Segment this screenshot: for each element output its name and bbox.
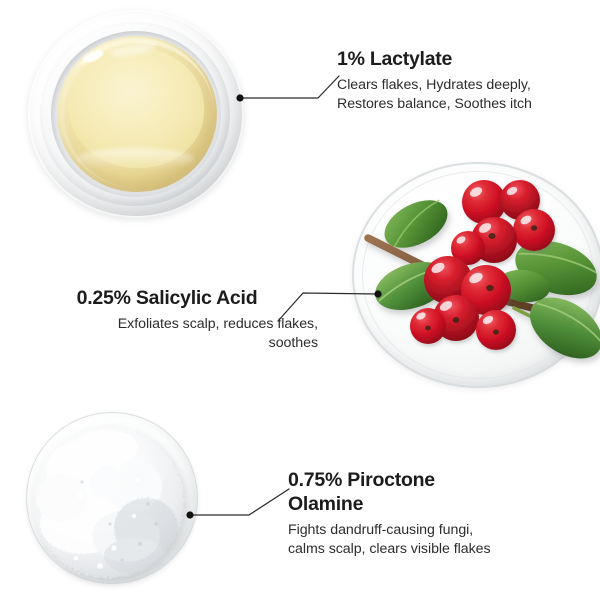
callout-lactylate-title: 1% Lactylate bbox=[337, 47, 587, 71]
callout-piroctone-title-line-2: Olamine bbox=[288, 493, 363, 515]
ingredient-image-jar bbox=[24, 8, 252, 220]
ingredient-image-berry-dish bbox=[344, 158, 600, 394]
lingonberry-sprig-illustration bbox=[344, 158, 600, 394]
callout-salicylic-acid-title: 0.25% Salicylic Acid bbox=[28, 286, 318, 310]
callout-piroctone-title-line-1: 0.75% Piroctone bbox=[288, 469, 435, 491]
ingredient-image-powder-dish bbox=[22, 408, 202, 592]
leader-line-lactylate bbox=[240, 76, 339, 98]
callout-salicylic-acid-description: Exfoliates scalp, reduces flakes, soothe… bbox=[28, 315, 318, 352]
callout-piroctone-olamine-title: 0.75% PiroctoneOlamine bbox=[288, 468, 568, 516]
leader-line-piroctone bbox=[190, 489, 289, 515]
callout-salicylic-acid: 0.25% Salicylic Acid Exfoliates scalp, r… bbox=[28, 286, 318, 352]
callout-piroctone-olamine-description: Fights dandruff-causing fungi, calms sca… bbox=[288, 521, 568, 558]
infographic-canvas: 1% Lactylate Clears flakes, Hydrates dee… bbox=[0, 0, 600, 600]
callout-piroctone-olamine: 0.75% PiroctoneOlamine Fights dandruff-c… bbox=[288, 468, 568, 558]
callout-lactylate-description: Clears flakes, Hydrates deeply, Restores… bbox=[337, 76, 587, 113]
white-powder-mound-illustration bbox=[22, 408, 202, 592]
callout-lactylate: 1% Lactylate Clears flakes, Hydrates dee… bbox=[337, 47, 587, 113]
jar-glass-edge bbox=[28, 10, 244, 218]
